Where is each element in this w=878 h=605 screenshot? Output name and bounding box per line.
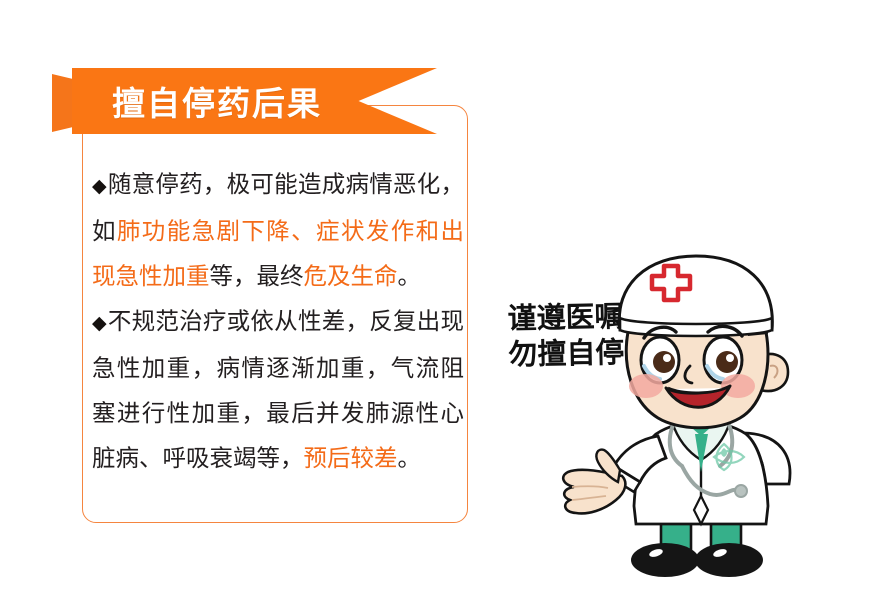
doctor-cheek-left <box>629 374 663 398</box>
bullet-2-segment-2: 预后较差 <box>304 445 398 471</box>
banner-ribbon-tail <box>52 74 74 132</box>
doctor-svg <box>548 238 878 600</box>
bullet-1-segment-5: 。 <box>398 263 422 289</box>
doctor-shoes <box>631 543 763 577</box>
bullet-item-2: ◆不规范治疗或依从性差，反复出现急性加重，病情逐渐加重，气流阻塞进行性加重，最后… <box>92 299 464 481</box>
doctor-cap <box>619 256 772 330</box>
bullet-marker-icon: ◆ <box>92 313 107 334</box>
card-body-text: ◆随意停药，极可能造成病情恶化，如肺功能急剧下降、症状发作和出现急性加重等，最终… <box>92 162 464 481</box>
banner-ribbon-body: 擅自停药后果 <box>72 68 437 134</box>
bullet-2-segment-3: 。 <box>398 445 422 471</box>
bullet-1-segment-3: 等，最终 <box>210 263 304 289</box>
bullet-1-segment-4: 危及生命 <box>304 263 398 289</box>
page-title: 擅自停药后果 <box>72 68 362 134</box>
stethoscope-bell <box>735 485 747 497</box>
bullet-marker-icon: ◆ <box>92 176 107 197</box>
bullet-item-1: ◆随意停药，极可能造成病情恶化，如肺功能急剧下降、症状发作和出现急性加重等，最终… <box>92 162 464 299</box>
doctor-illustration <box>548 238 878 600</box>
section-banner: 擅自停药后果 <box>52 68 437 134</box>
